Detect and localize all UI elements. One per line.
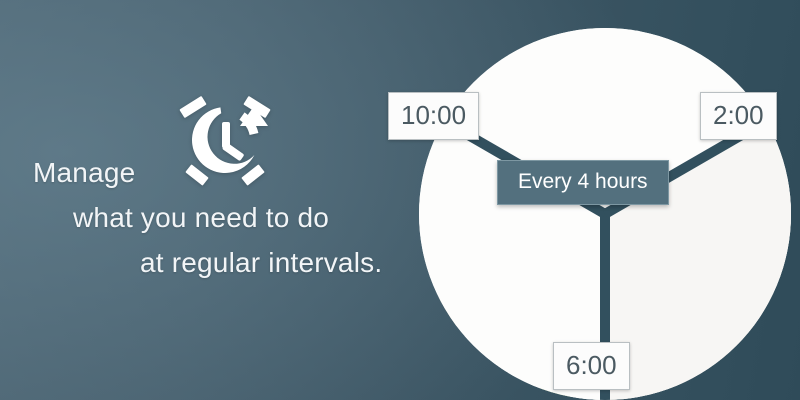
- time-chip-10-label: 10:00: [401, 100, 466, 130]
- interval-badge-label: Every 4 hours: [518, 170, 648, 193]
- time-chip-6-label: 6:00: [566, 350, 617, 380]
- headline-line-2: what you need to do: [0, 195, 420, 240]
- headline-line-3: at regular intervals.: [0, 240, 420, 285]
- time-chip-10[interactable]: 10:00: [388, 92, 479, 140]
- interval-badge: Every 4 hours: [497, 160, 669, 205]
- time-chip-2-label: 2:00: [713, 100, 764, 130]
- time-chip-6[interactable]: 6:00: [553, 342, 630, 390]
- promo-banner: Manage what you need to do at regular in…: [0, 0, 800, 400]
- alarm-clock-repeat-icon: [168, 92, 284, 188]
- time-chip-2[interactable]: 2:00: [700, 92, 777, 140]
